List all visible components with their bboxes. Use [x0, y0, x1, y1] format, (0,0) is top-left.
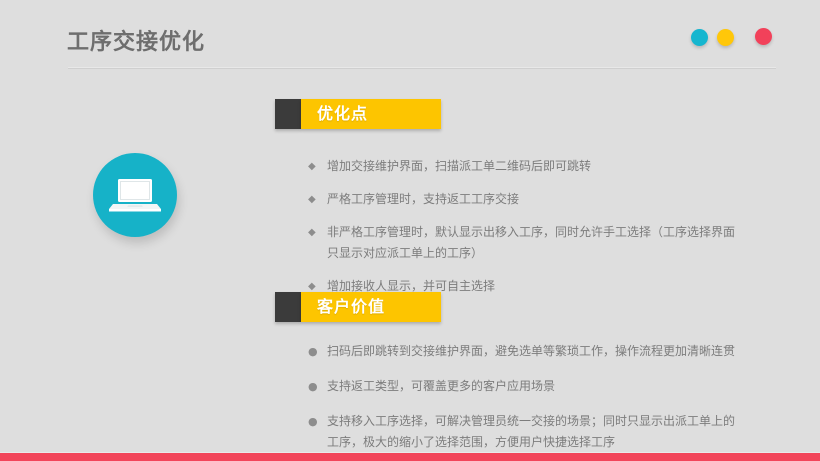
decor-dot-yellow-icon: [717, 29, 734, 46]
list-item-text: 严格工序管理时，支持返工工序交接: [327, 192, 519, 206]
laptop-icon: [107, 175, 163, 215]
decor-dot-red-icon: [755, 28, 772, 45]
list-item-text: 增加交接维护界面，扫描派工单二维码后即可跳转: [327, 159, 591, 173]
diamond-bullet-icon: ◆: [308, 156, 316, 177]
bottom-accent-bar: [0, 452, 820, 461]
diamond-bullet-icon: ◆: [308, 189, 316, 210]
dot-bullet-icon: ●: [308, 376, 318, 397]
list-item-text: 扫码后即跳转到交接维护界面，避免选单等繁琐工作，操作流程更加清晰连贯: [327, 344, 735, 358]
list-item-text: 支持返工类型，可覆盖更多的客户应用场景: [327, 379, 555, 393]
section-title-optimization: 优化点: [317, 99, 368, 129]
list-item: ● 支持移入工序选择，可解决管理员统一交接的场景；同时只显示出派工单上的工序，极…: [308, 411, 738, 453]
header-divider: [68, 67, 776, 69]
dot-bullet-icon: ●: [308, 411, 318, 432]
banner-square-optimization: [275, 99, 301, 129]
decor-dot-cyan-icon: [691, 29, 708, 46]
banner-square-value: [275, 292, 301, 322]
list-item: ◆ 非严格工序管理时，默认显示出移入工序，同时允许手工选择（工序选择界面只显示对…: [308, 222, 738, 264]
list-item-text: 增加接收人显示，并可自主选择: [327, 279, 495, 293]
diamond-bullet-icon: ◆: [308, 222, 316, 243]
slide-canvas: 工序交接优化 优化点 ◆ 增加交接维护界面，扫描派工单二维码后即可跳转 ◆ 严格…: [0, 0, 820, 461]
list-item: ● 支持返工类型，可覆盖更多的客户应用场景: [308, 376, 738, 397]
bullet-list-optimization: ◆ 增加交接维护界面，扫描派工单二维码后即可跳转 ◆ 严格工序管理时，支持返工工…: [308, 156, 738, 297]
list-item-text: 非严格工序管理时，默认显示出移入工序，同时允许手工选择（工序选择界面只显示对应派…: [327, 225, 735, 260]
laptop-icon-badge: [93, 153, 177, 237]
list-item: ● 扫码后即跳转到交接维护界面，避免选单等繁琐工作，操作流程更加清晰连贯: [308, 341, 738, 362]
bullet-list-value: ● 扫码后即跳转到交接维护界面，避免选单等繁琐工作，操作流程更加清晰连贯 ● 支…: [308, 341, 738, 461]
list-item: ◆ 增加交接维护界面，扫描派工单二维码后即可跳转: [308, 156, 738, 177]
page-title: 工序交接优化: [67, 28, 205, 58]
list-item-text: 支持移入工序选择，可解决管理员统一交接的场景；同时只显示出派工单上的工序，极大的…: [327, 414, 735, 449]
list-item: ◆ 严格工序管理时，支持返工工序交接: [308, 189, 738, 210]
dot-bullet-icon: ●: [308, 341, 318, 362]
section-title-value: 客户价值: [317, 292, 385, 322]
